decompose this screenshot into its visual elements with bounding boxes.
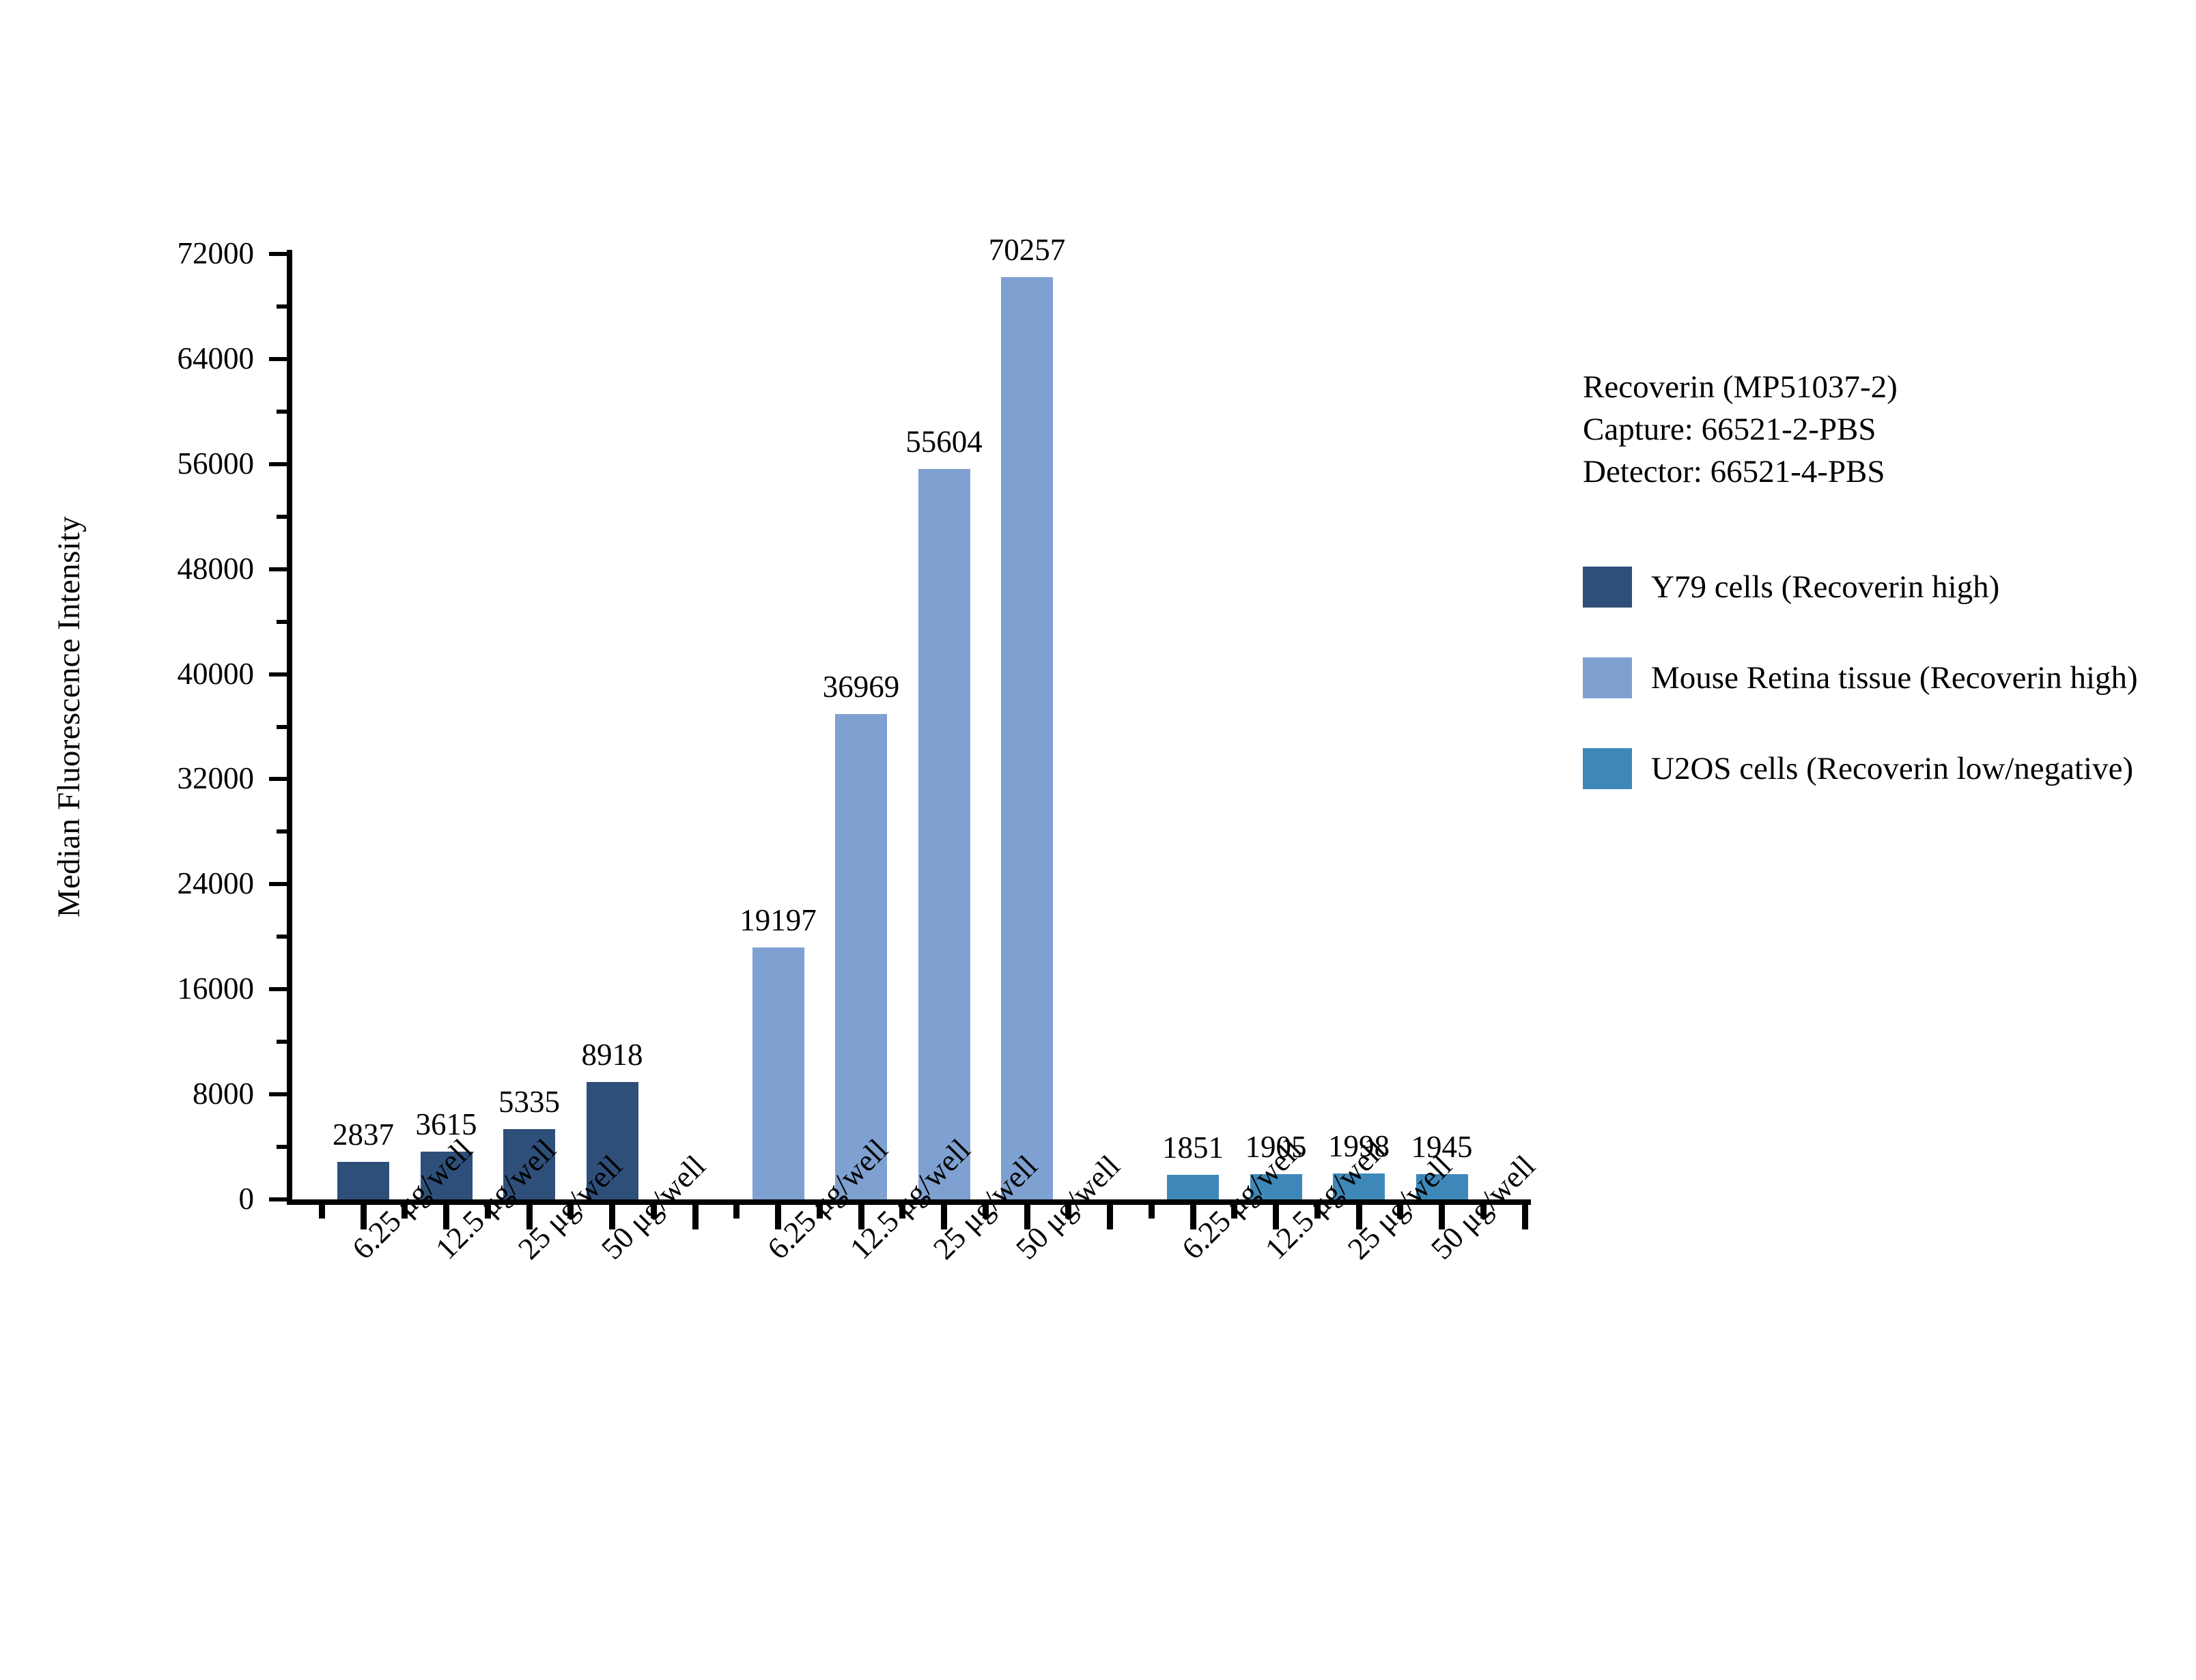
x-axis-major-tick (1522, 1205, 1528, 1229)
legend-color-swatch (1583, 657, 1632, 698)
legend-color-swatch (1583, 748, 1632, 789)
legend-item-label: U2OS cells (Recoverin low/negative) (1651, 750, 2133, 788)
bar[interactable] (337, 1162, 389, 1199)
legend-item-label: Y79 cells (Recoverin high) (1651, 568, 1999, 606)
annotation-line-1: Recoverin (MP51037-2) (1583, 366, 1898, 408)
legend-color-swatch (1583, 567, 1632, 608)
x-axis-minor-tick (733, 1205, 740, 1219)
bar[interactable] (1001, 277, 1053, 1199)
bar-chart: Median Fluorescence Intensity 0800016000… (0, 0, 2196, 1680)
x-axis-minor-tick (319, 1205, 325, 1219)
bar[interactable] (918, 469, 970, 1199)
x-axis-minor-tick (1149, 1205, 1155, 1219)
bar-value-label: 70257 (945, 235, 1109, 266)
legend-item-label: Mouse Retina tissue (Recoverin high) (1651, 659, 2138, 697)
bar[interactable] (835, 714, 887, 1199)
annotation-line-3: Detector: 66521-4-PBS (1583, 451, 1898, 493)
x-axis-major-tick (1107, 1205, 1113, 1229)
annotation-line-2: Capture: 66521-2-PBS (1583, 408, 1898, 451)
bar[interactable] (752, 948, 804, 1199)
bar-value-label: 8918 (531, 1040, 694, 1070)
x-axis-major-tick (692, 1205, 699, 1229)
bar[interactable] (1167, 1175, 1219, 1199)
annotation-block: Recoverin (MP51037-2)Capture: 66521-2-PB… (1583, 366, 1898, 493)
